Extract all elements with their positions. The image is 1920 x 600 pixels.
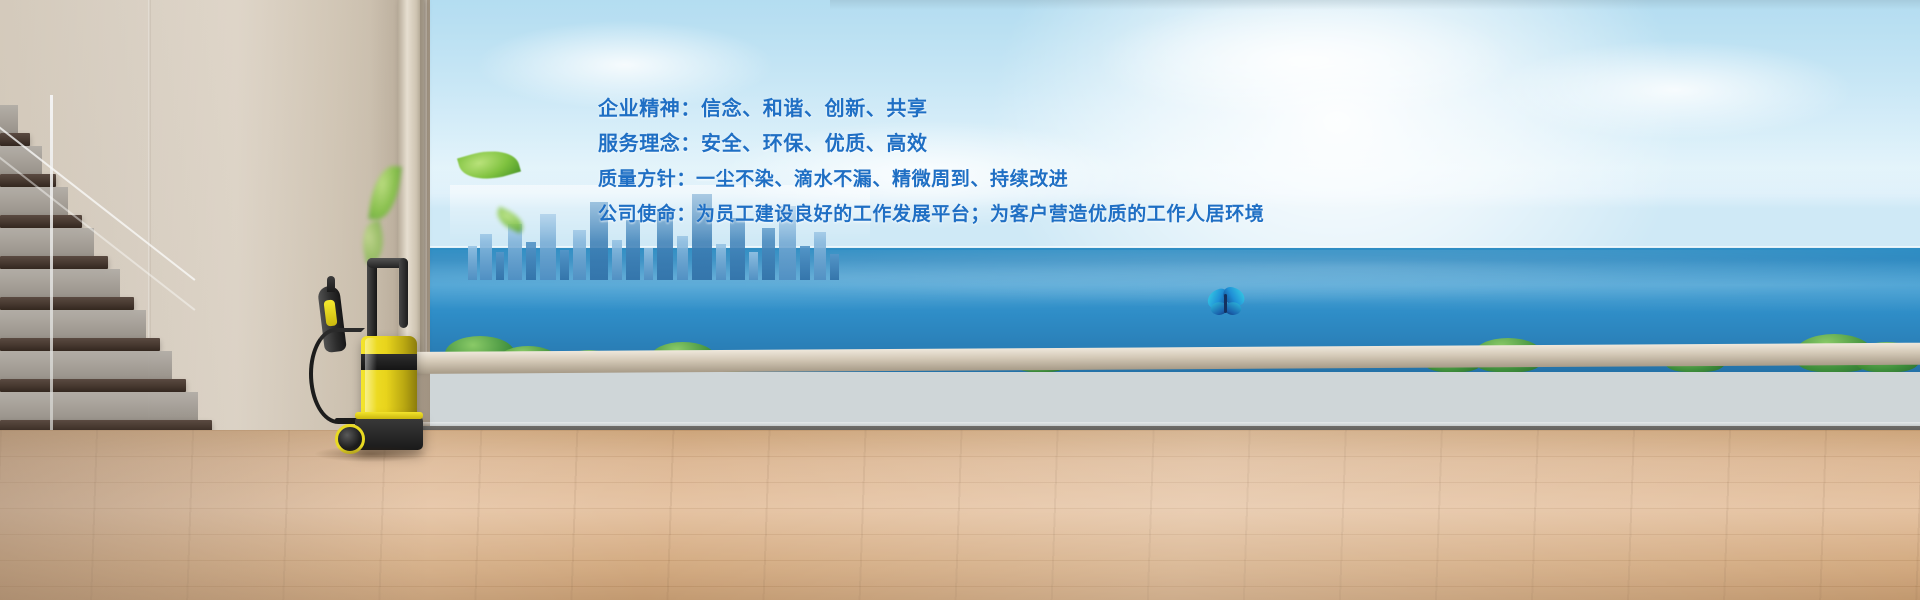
statement-line-quality: 质量方针：一尘不染、滴水不漏、精微周到、持续改进 [598, 162, 1358, 197]
stair-step [0, 297, 134, 310]
stair-riser [0, 310, 146, 338]
pressure-washer [305, 258, 430, 463]
washer-handle-bar [367, 258, 377, 340]
stair-step [0, 215, 82, 228]
stair-step [0, 379, 186, 392]
washer-body-shine [365, 338, 377, 418]
stair-step [0, 338, 160, 351]
stair-riser [0, 269, 120, 297]
washer-floor-shadow [315, 446, 427, 462]
cloud-3 [1495, 40, 1855, 140]
high-pressure-hose [309, 328, 365, 424]
washer-handle-bar-2 [399, 258, 408, 328]
staircase [0, 105, 185, 465]
stair-riser [0, 228, 94, 256]
stair-riser [0, 351, 172, 379]
butterfly-body [1224, 294, 1227, 313]
mission-statement-block: 企业精神：信念、和谐、创新、共享 服务理念：安全、环保、优质、高效 质量方针：一… [598, 92, 1358, 232]
washer-base [355, 416, 423, 450]
baseboard-highlight [415, 422, 1920, 426]
stair-riser [0, 392, 198, 420]
butterfly-icon [1207, 288, 1247, 324]
spray-gun-nozzle [327, 276, 335, 292]
statement-line-spirit: 企业精神：信念、和谐、创新、共享 [598, 92, 1358, 127]
statement-line-service: 服务理念：安全、环保、优质、高效 [598, 127, 1358, 162]
ceiling-shadow [830, 0, 1920, 10]
statement-line-mission: 公司使命：为员工建设良好的工作发展平台；为客户营造优质的工作人居环境 [598, 197, 1358, 232]
stair-step [0, 256, 108, 269]
stair-riser [0, 146, 42, 174]
washer-base-accent [355, 412, 423, 419]
banner-stage: 企业精神：信念、和谐、创新、共享 服务理念：安全、环保、优质、高效 质量方针：一… [0, 0, 1920, 600]
